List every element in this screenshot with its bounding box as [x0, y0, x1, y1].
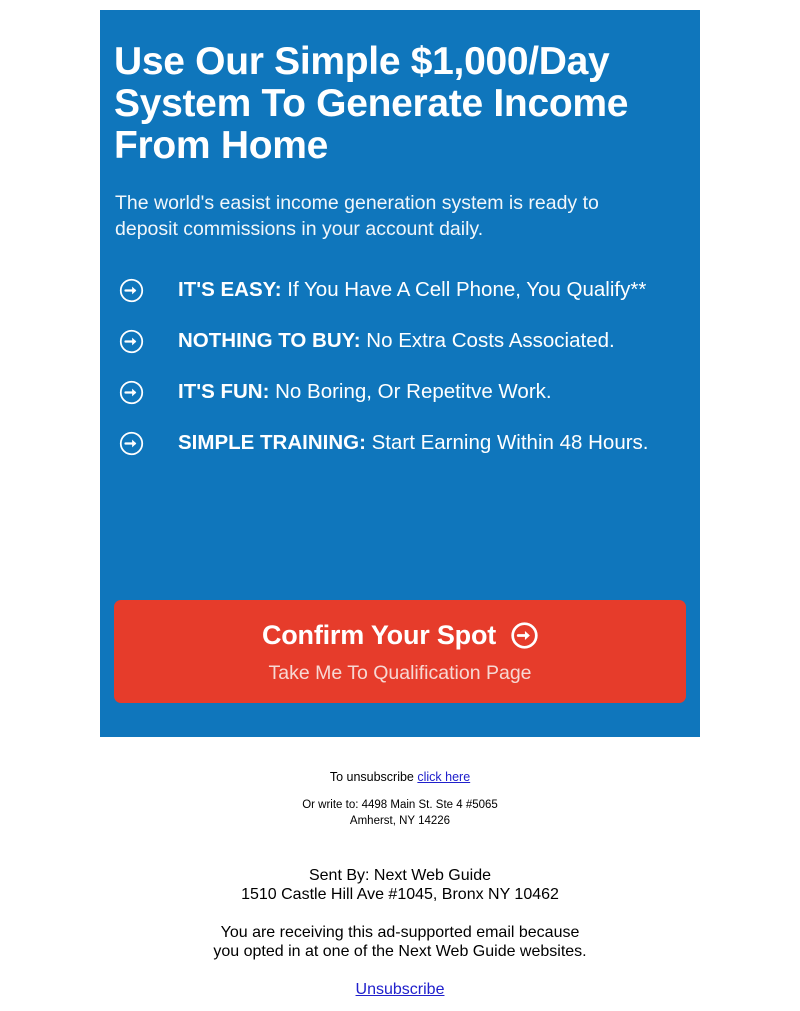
- footer-secondary: Sent By: Next Web Guide 1510 Castle Hill…: [0, 866, 800, 999]
- list-item-detail: If You Have A Cell Phone, You Qualify**: [282, 278, 647, 301]
- sent-by-line: Sent By: Next Web Guide: [0, 866, 800, 885]
- list-item-detail: No Boring, Or Repetitve Work.: [269, 380, 551, 403]
- circle-arrow-right-icon: [119, 380, 144, 405]
- list-item: IT'S FUN: No Boring, Or Repetitve Work.: [115, 374, 685, 410]
- unsubscribe-wrap: Unsubscribe: [0, 980, 800, 999]
- disclaimer-line-2: you opted in at one of the Next Web Guid…: [0, 942, 800, 961]
- sender-address-line: 1510 Castle Hill Ave #1045, Bronx NY 104…: [0, 885, 800, 904]
- circle-arrow-right-icon: [119, 278, 144, 303]
- list-item: NOTHING TO BUY: No Extra Costs Associate…: [115, 323, 685, 359]
- list-item-text: NOTHING TO BUY: No Extra Costs Associate…: [178, 329, 615, 352]
- mailing-address: Or write to: 4498 Main St. Ste 4 #5065 A…: [0, 797, 800, 829]
- list-item-text: SIMPLE TRAINING: Start Earning Within 48…: [178, 431, 649, 454]
- list-item-label: NOTHING TO BUY:: [178, 329, 361, 352]
- list-item: SIMPLE TRAINING: Start Earning Within 48…: [115, 425, 685, 461]
- email-page: Use Our Simple $1,000/Day System To Gene…: [0, 0, 800, 1011]
- address-line-1: Or write to: 4498 Main St. Ste 4 #5065: [0, 797, 800, 813]
- cta-main-row: Confirm Your Spot: [114, 617, 686, 653]
- list-item-detail: No Extra Costs Associated.: [361, 329, 615, 352]
- list-item-label: SIMPLE TRAINING:: [178, 431, 366, 454]
- circle-arrow-right-icon: [119, 431, 144, 456]
- disclaimer-line-1: You are receiving this ad-supported emai…: [0, 923, 800, 942]
- list-item-text: IT'S EASY: If You Have A Cell Phone, You…: [178, 278, 646, 301]
- circle-arrow-right-icon: [119, 329, 144, 354]
- list-item-detail: Start Earning Within 48 Hours.: [366, 431, 649, 454]
- address-line-2: Amherst, NY 14226: [0, 813, 800, 829]
- confirm-your-spot-button[interactable]: Confirm Your Spot Take Me To Qualificati…: [114, 600, 686, 703]
- footer-spacer: [0, 904, 800, 923]
- hero-subheadline: The world's easist income generation sys…: [115, 190, 660, 242]
- cta-main-label: Confirm Your Spot: [262, 617, 496, 653]
- footer-primary: To unsubscribe click here Or write to: 4…: [0, 768, 800, 829]
- unsubscribe-line: To unsubscribe click here: [0, 768, 800, 787]
- page-title: Use Our Simple $1,000/Day System To Gene…: [114, 41, 674, 167]
- unsubscribe-prefix: To unsubscribe: [330, 770, 418, 784]
- list-item-text: IT'S FUN: No Boring, Or Repetitve Work.: [178, 380, 552, 403]
- benefit-list: IT'S EASY: If You Have A Cell Phone, You…: [115, 272, 685, 461]
- list-item: IT'S EASY: If You Have A Cell Phone, You…: [115, 272, 685, 308]
- circle-arrow-right-icon: [511, 622, 538, 649]
- list-item-label: IT'S EASY:: [178, 278, 282, 301]
- unsubscribe-link[interactable]: Unsubscribe: [356, 981, 445, 998]
- click-here-link[interactable]: click here: [417, 770, 470, 784]
- list-item-label: IT'S FUN:: [178, 380, 269, 403]
- cta-sub-label: Take Me To Qualification Page: [114, 660, 686, 686]
